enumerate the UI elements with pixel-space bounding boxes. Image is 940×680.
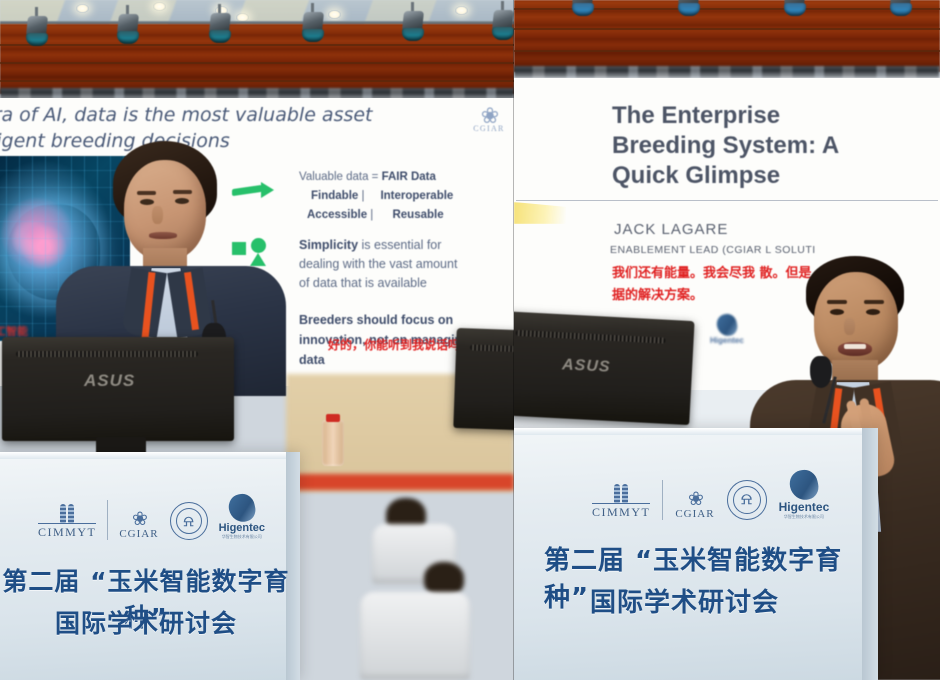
podium-right: CIMMYT ❀ CGIAR ⍾ Higentec 华智生物技术有限公司 [514,428,878,680]
audience-head [424,562,464,596]
higentec-logo: Higentec 华智生物技术有限公司 [779,470,830,520]
live-caption-cn-right-1: 我们还有能量。我会尽我 散。但是 [612,262,812,281]
higentec-logo-text: Higentec [779,500,830,514]
cgiar-mark-icon: ❀ [464,108,514,124]
ceiling-right [514,0,940,88]
monitor-asus-2 [453,328,514,432]
slide-divider-rule [516,200,938,201]
podium-logo-row-left: CIMMYT ❀ CGIAR ⍾ Higentec 华智生物技术有限公司 [38,494,265,540]
academy-seal-logo: ⍾ [727,480,767,520]
stage-spotlight-icon [782,0,808,20]
tile-divider [513,0,514,680]
podium-title-line2-right: 国际学术研讨会 [514,582,878,619]
cimmyt-logo-text: CIMMYT [592,503,650,520]
stage-spotlight-icon [570,0,596,20]
cgiar-logo-text: CGIAR [675,508,714,520]
higentec-mark-icon [226,492,257,525]
stage-spotlight-icon [207,13,233,47]
bottle-cap [326,414,340,422]
higentec-logo-subtext: 华智生物技术有限公司 [219,534,265,540]
podium-title-line2-left: 国际学术研讨会 [0,604,300,640]
cimmyt-mark-icon [592,483,650,503]
downlight-icon [328,10,341,19]
higentec-watermark-text: Higentec [710,336,744,345]
slide-title-line2-right: Breeding System: A [612,132,839,160]
higentec-logo-subtext: 华智生物技术有限公司 [779,514,830,520]
downlight-icon [76,4,89,13]
stage-spotlight-icon [300,12,326,46]
academy-seal-icon: ⍾ [727,480,767,520]
stage-spotlight-icon [888,0,914,20]
presenter-name-right: JACK LAGARE [614,221,728,238]
video-conference-stage: era of AI, data is the most valuable ass… [0,0,940,680]
audience-seat [360,592,470,680]
water-bottle [322,420,344,466]
cgiar-logo-podium: ❀ CGIAR [675,491,714,520]
cgiar-logo-slide: ❀ CGIAR [464,108,514,133]
monitor-asus-1: ASUS [2,337,234,441]
higentec-logo-text: Higentec [219,522,265,534]
cgiar-logo-podium: ❀ CGIAR [119,511,158,540]
higentec-mark-icon [715,312,739,338]
monitor-asus-3: ASUS [514,311,695,425]
higentec-logo: Higentec 华智生物技术有限公司 [219,494,265,540]
cimmyt-logo: CIMMYT [38,503,96,540]
higentec-mark-icon [787,467,821,502]
yellow-accent-wedge [514,202,566,224]
stage-spotlight-icon [676,0,702,20]
green-arrow-icon [232,182,274,198]
podium-left: CIMMYT ❀ CGIAR ⍾ Higentec 华智生物技术有限公司 [0,452,300,680]
cgiar-mark-icon: ❀ [119,511,158,528]
slide-bullet-2: Simplicity is essential for dealing with… [299,236,457,293]
stage-spotlight-icon [400,11,426,45]
red-banner-strip [286,474,514,490]
logo-divider [107,500,108,540]
cgiar-logo-text: CGIAR [464,124,514,133]
downlight-icon [153,2,166,11]
podium-logo-row-right: CIMMYT ❀ CGIAR ⍾ Higentec 华智生物技术有限公司 [592,470,829,520]
downlight-icon [455,6,468,15]
ceiling-left [0,0,514,100]
slide-bullet-1: Valuable data = FAIR Data Findable | Int… [299,168,453,225]
cimmyt-logo-text: CIMMYT [38,523,96,540]
academy-seal-icon: ⍾ [170,502,208,540]
stage-spotlight-icon [24,16,50,50]
slide-title-line1: era of AI, data is the most valuable ass… [0,104,373,126]
left-video-tile[interactable]: era of AI, data is the most valuable ass… [0,0,514,680]
slide-title-line1-right: The Enterprise [612,102,780,130]
higentec-watermark: Higentec [710,314,744,345]
cgiar-logo-text: CGIAR [119,528,158,540]
stage-spotlight-icon [115,14,141,48]
presenter-role-right: ENABLEMENT LEAD (CGIAR L SOLUTI [610,244,816,256]
monitor-brand-label: ASUS [84,371,135,391]
academy-seal-logo: ⍾ [170,502,208,540]
logo-divider [662,480,663,520]
cimmyt-mark-icon [38,503,96,523]
wood-ceiling-panel [0,24,514,94]
green-shapes-icon [232,238,272,268]
slide-title-line3-right: Quick Glimpse [612,162,780,190]
cgiar-mark-icon: ❀ [675,491,714,508]
right-video-tile[interactable]: The Enterprise Breeding System: A Quick … [514,0,940,680]
live-caption-cn-right-2: 据的解决方案。 [612,284,703,303]
stage-spotlight-icon [490,10,514,44]
microphone-icon [810,356,832,388]
ceiling-trim [514,66,940,78]
cimmyt-logo: CIMMYT [592,483,650,520]
monitor-brand-label: ASUS [562,356,611,377]
